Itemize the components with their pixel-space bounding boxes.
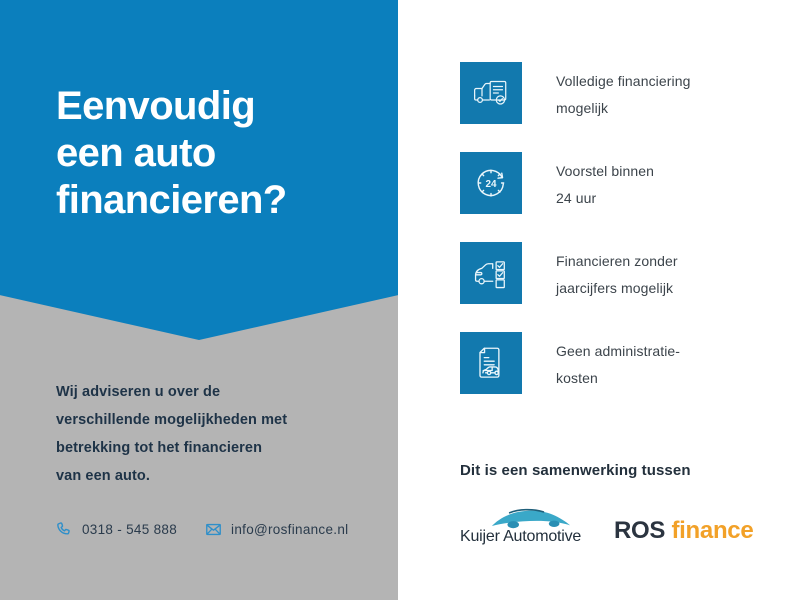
page-title: Eenvoudig een auto financieren? (56, 83, 386, 224)
car-checklist-icon (473, 257, 509, 289)
partner-logo-row: Kuijer Automotive ROS finance (460, 506, 753, 546)
phone-number: 0318 - 545 888 (82, 522, 177, 537)
phone-icon (56, 521, 73, 538)
kuijer-word-part1: Kuijer (460, 528, 500, 545)
intro-paragraph: Wij adviseren u over de verschillende mo… (56, 378, 376, 490)
partners-section: Dit is een samenwerking tussen Kuijer Au… (460, 462, 790, 479)
feature-label: Volledige financiering mogelijk (556, 68, 776, 122)
document-car-icon (475, 346, 507, 380)
feature-label: Geen administratie- kosten (556, 338, 776, 392)
intro-line-2: verschillende mogelijkheden met (56, 406, 376, 434)
feature-item-volledige-financiering: Volledige financiering mogelijk (460, 62, 780, 152)
feature-label-line-2: mogelijk (556, 95, 776, 122)
feature-label-line-2: jaarcijfers mogelijk (556, 275, 776, 302)
feature-label-line-2: kosten (556, 365, 776, 392)
feature-list: Volledige financiering mogelijk 24 V (460, 62, 780, 422)
feature-label-line-1: Volledige financiering (556, 68, 776, 95)
headline-line-2: een auto (56, 130, 386, 177)
contact-row: 0318 - 545 888 info@rosfinance.nl (56, 521, 376, 538)
clock-24-hour-icon: 24 (474, 166, 508, 200)
feature-icon-tile: 24 (460, 152, 522, 214)
email-address: info@rosfinance.nl (231, 522, 348, 537)
feature-label: Financieren zonder jaarcijfers mogelijk (556, 248, 776, 302)
feature-label-line-2: 24 uur (556, 185, 776, 212)
headline-line-1: Eenvoudig (56, 83, 386, 130)
headline-line-3: financieren? (56, 177, 386, 224)
intro-line-4: van een auto. (56, 462, 376, 490)
phone-contact[interactable]: 0318 - 545 888 (56, 521, 177, 538)
feature-item-geen-administratiekosten: Geen administratie- kosten (460, 332, 780, 422)
intro-line-1: Wij adviseren u over de (56, 378, 376, 406)
promo-poster: Eenvoudig een auto financieren? Wij advi… (0, 0, 800, 600)
intro-line-3: betrekking tot het financieren (56, 434, 376, 462)
feature-icon-tile (460, 332, 522, 394)
feature-icon-tile (460, 62, 522, 124)
ros-word-part1: ROS (614, 517, 665, 544)
kuijer-word-part2: Automotive (500, 528, 581, 545)
kuijer-automotive-wordmark: Kuijer Automotive (460, 528, 581, 546)
feature-label-line-1: Voorstel binnen (556, 158, 776, 185)
kuijer-automotive-logo[interactable]: Kuijer Automotive (460, 506, 592, 546)
feature-label-line-1: Financieren zonder (556, 248, 776, 275)
envelope-icon (205, 521, 222, 538)
feature-label: Voorstel binnen 24 uur (556, 158, 776, 212)
ros-finance-logo[interactable]: ROS finance (614, 517, 753, 546)
ros-word-part2: finance (665, 517, 753, 544)
feature-icon-tile (460, 242, 522, 304)
feature-item-financieren-zonder-jaarcijfers: Financieren zonder jaarcijfers mogelijk (460, 242, 780, 332)
email-contact[interactable]: info@rosfinance.nl (205, 521, 348, 538)
partners-title: Dit is een samenwerking tussen (460, 462, 790, 479)
feature-item-voorstel-binnen-24-uur: 24 Voorstel binnen 24 uur (460, 152, 780, 242)
feature-label-line-1: Geen administratie- (556, 338, 776, 365)
svg-text:24: 24 (485, 179, 497, 190)
delivery-van-document-icon (473, 78, 509, 108)
